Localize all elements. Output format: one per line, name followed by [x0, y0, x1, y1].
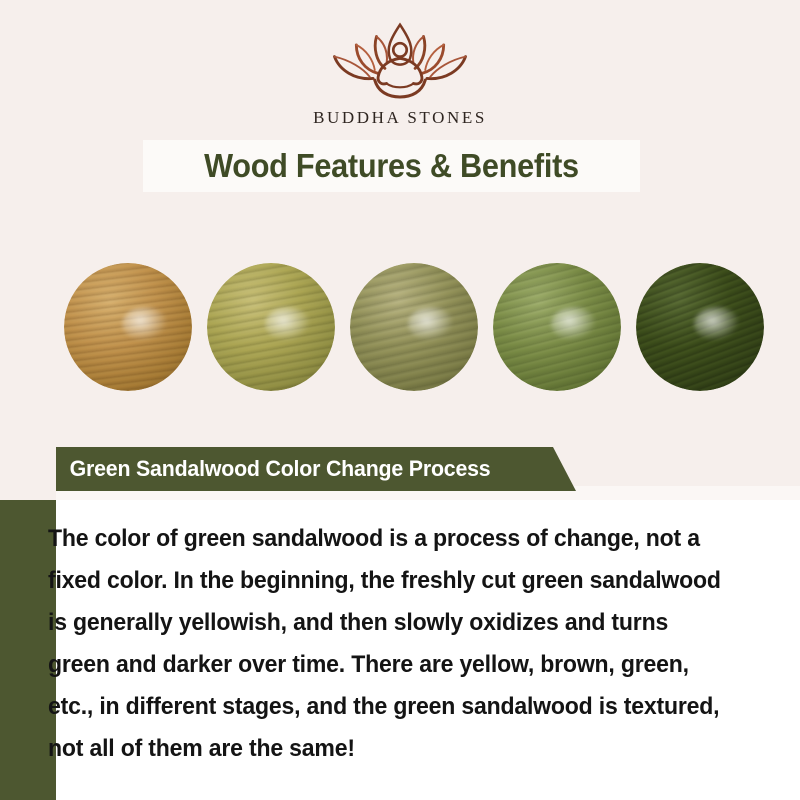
brand-name: BUDDHA STONES — [313, 108, 487, 128]
poster-root: BUDDHA STONES Wood Features & Benefits — [0, 0, 800, 800]
bead-stage-5 — [636, 263, 764, 391]
section-banner-title: Green Sandalwood Color Change Process — [56, 456, 490, 482]
bead-gradient-row — [56, 252, 772, 402]
brand-header: BUDDHA STONES — [0, 0, 800, 150]
bead-stage-2 — [207, 263, 335, 391]
page-title: Wood Features & Benefits — [204, 147, 579, 185]
section-banner: Green Sandalwood Color Change Process — [56, 447, 576, 491]
section-body-text: The color of green sandalwood is a proce… — [48, 518, 732, 770]
lotus-meditation-figure-icon — [315, 18, 485, 102]
page-title-band: Wood Features & Benefits — [143, 140, 640, 192]
bead-stage-4 — [493, 263, 621, 391]
bead-stage-1 — [64, 263, 192, 391]
bead-stage-3 — [350, 263, 478, 391]
